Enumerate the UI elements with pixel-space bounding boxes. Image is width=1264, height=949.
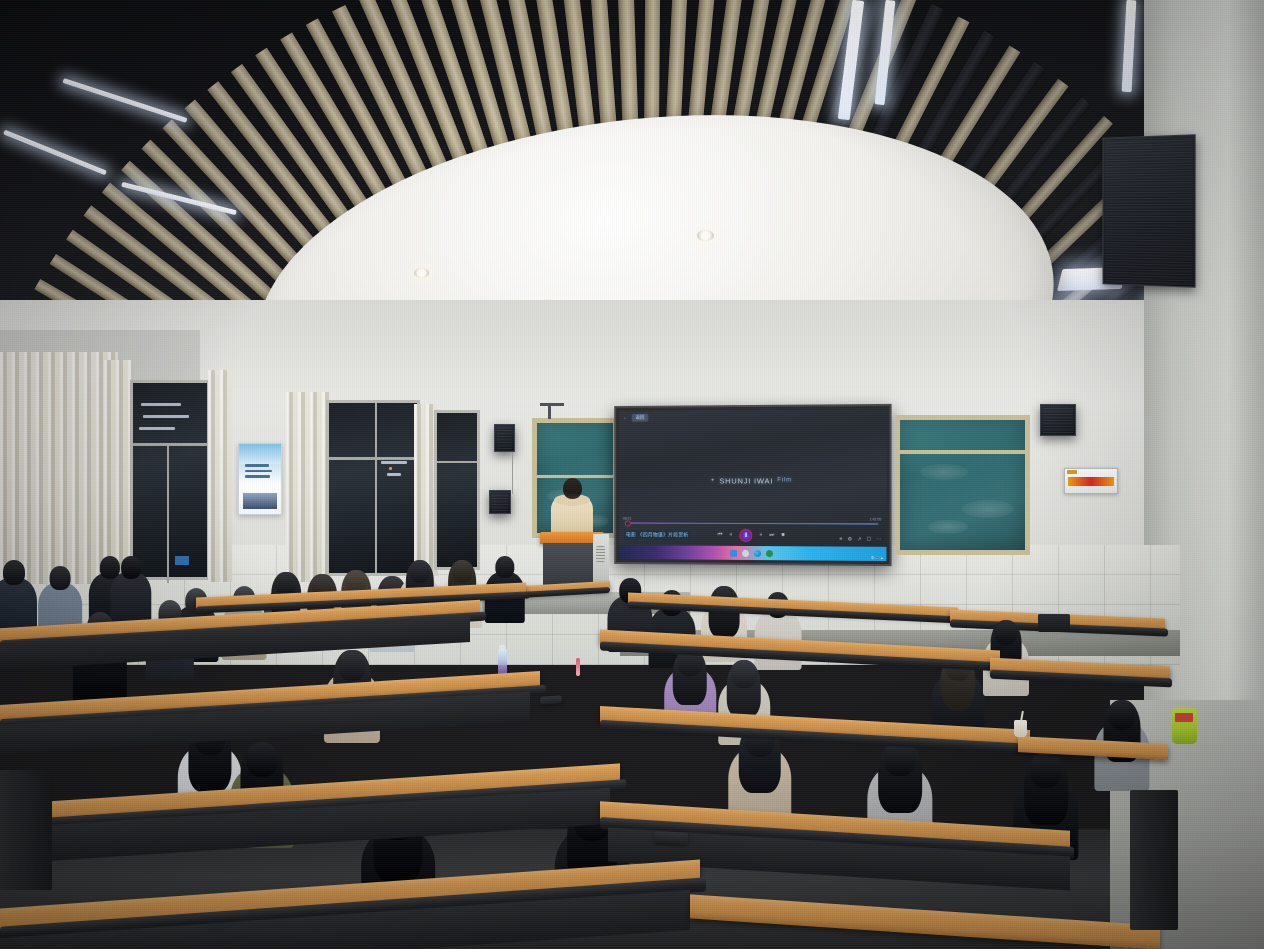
desk-leg — [1130, 790, 1178, 930]
rewind-button[interactable]: « — [729, 533, 732, 539]
smartphone[interactable] — [540, 695, 563, 705]
settings-icon[interactable]: ⚙ — [848, 536, 853, 542]
student-head — [1030, 752, 1061, 788]
trash-bin-green — [1172, 708, 1197, 744]
fullscreen-icon[interactable]: ☐ — [867, 537, 872, 543]
forward-button[interactable]: » — [759, 533, 762, 539]
framed-notice-red — [1064, 468, 1118, 494]
back-arrow-icon[interactable]: ← — [623, 414, 628, 420]
share-icon[interactable]: ↗ — [857, 537, 861, 543]
wall-speaker — [494, 424, 515, 452]
chalkboard-right — [895, 415, 1030, 555]
video-title-label: 电影 《四月物语》片段赏析 — [624, 530, 691, 539]
student-head — [247, 742, 278, 777]
student-head — [339, 650, 366, 681]
recessed-downlight — [414, 268, 429, 278]
ceiling-mounted-speaker — [1102, 134, 1195, 288]
poster-photo — [243, 493, 277, 509]
marker-pen — [576, 658, 580, 676]
student-head — [121, 556, 141, 579]
wall-poster-safety-notice — [238, 443, 282, 515]
interactive-smart-display[interactable]: ← 返回 ✦ SHUNJI IWAI Film 08:21 1:42:05 电影… — [614, 404, 891, 566]
poster-text-lines — [245, 464, 272, 478]
video-progress-bar[interactable] — [627, 522, 878, 524]
start-icon[interactable] — [730, 549, 737, 556]
play-pause-button[interactable]: Ⅱ — [739, 529, 752, 542]
wall-speaker — [1040, 404, 1076, 436]
backpack — [1038, 614, 1070, 632]
video-right-controls[interactable]: ≡ ⚙ ↗ ☐ ⋯ — [839, 536, 881, 542]
display-screen[interactable]: ← 返回 ✦ SHUNJI IWAI Film 08:21 1:42:05 电影… — [619, 409, 886, 561]
window — [326, 400, 420, 576]
video-controls[interactable]: ⏮ « Ⅱ » ⏭ ■ — [718, 529, 785, 542]
more-icon[interactable]: ⋯ — [876, 537, 881, 543]
wall-speaker — [489, 490, 511, 514]
curtain-panel — [286, 392, 330, 582]
student-head — [1109, 700, 1135, 730]
window — [130, 380, 210, 580]
stop-button[interactable]: ■ — [781, 533, 784, 539]
student-head — [50, 566, 71, 590]
student-head — [3, 560, 25, 585]
video-center-title: ✦ SHUNJI IWAI Film — [711, 476, 792, 485]
smartphone[interactable] — [654, 831, 689, 845]
next-button[interactable]: ⏭ — [769, 533, 774, 539]
presenter-head — [563, 478, 582, 499]
search-icon[interactable] — [742, 549, 749, 556]
app-icon[interactable] — [765, 550, 772, 557]
previous-button[interactable]: ⏮ — [718, 533, 723, 539]
video-topbar: ← 返回 — [619, 409, 886, 424]
playlist-icon[interactable]: ≡ — [839, 536, 842, 542]
bottle-cap — [499, 645, 506, 649]
lectern-speaker-grille — [596, 546, 605, 562]
curtain-panel — [208, 370, 232, 582]
video-progress-knob[interactable] — [625, 521, 631, 527]
board-mount-arm — [548, 405, 551, 419]
bin-label — [1175, 713, 1193, 722]
video-time-total: 1:42:05 — [869, 517, 881, 521]
drink-cup — [1014, 720, 1027, 737]
notice-header-band — [1067, 470, 1077, 474]
lecture-hall-photo: ← 返回 ✦ SHUNJI IWAI Film 08:21 1:42:05 电影… — [0, 0, 1264, 949]
student-head — [495, 556, 514, 578]
system-tray[interactable]: 中 🔊 ▲ — [871, 555, 883, 560]
student-head — [410, 560, 430, 583]
curtain-panel — [0, 352, 118, 584]
video-center-main: SHUNJI IWAI — [719, 476, 773, 485]
recessed-downlight — [697, 230, 714, 241]
speaker-cable — [512, 452, 513, 494]
window — [434, 410, 480, 570]
student-head — [995, 620, 1017, 645]
video-center-sub: Film — [777, 477, 792, 483]
board-mount-arm — [540, 403, 564, 406]
sparkle-icon: ✦ — [711, 478, 716, 484]
student-head — [452, 560, 472, 583]
windows-taskbar[interactable]: 中 🔊 ▲ — [619, 545, 886, 561]
notice-red-band — [1068, 477, 1114, 486]
student-head — [732, 660, 757, 688]
video-topbar-tab[interactable]: 返回 — [632, 413, 649, 421]
desk-leg — [0, 770, 52, 890]
edge-icon[interactable] — [753, 550, 760, 557]
